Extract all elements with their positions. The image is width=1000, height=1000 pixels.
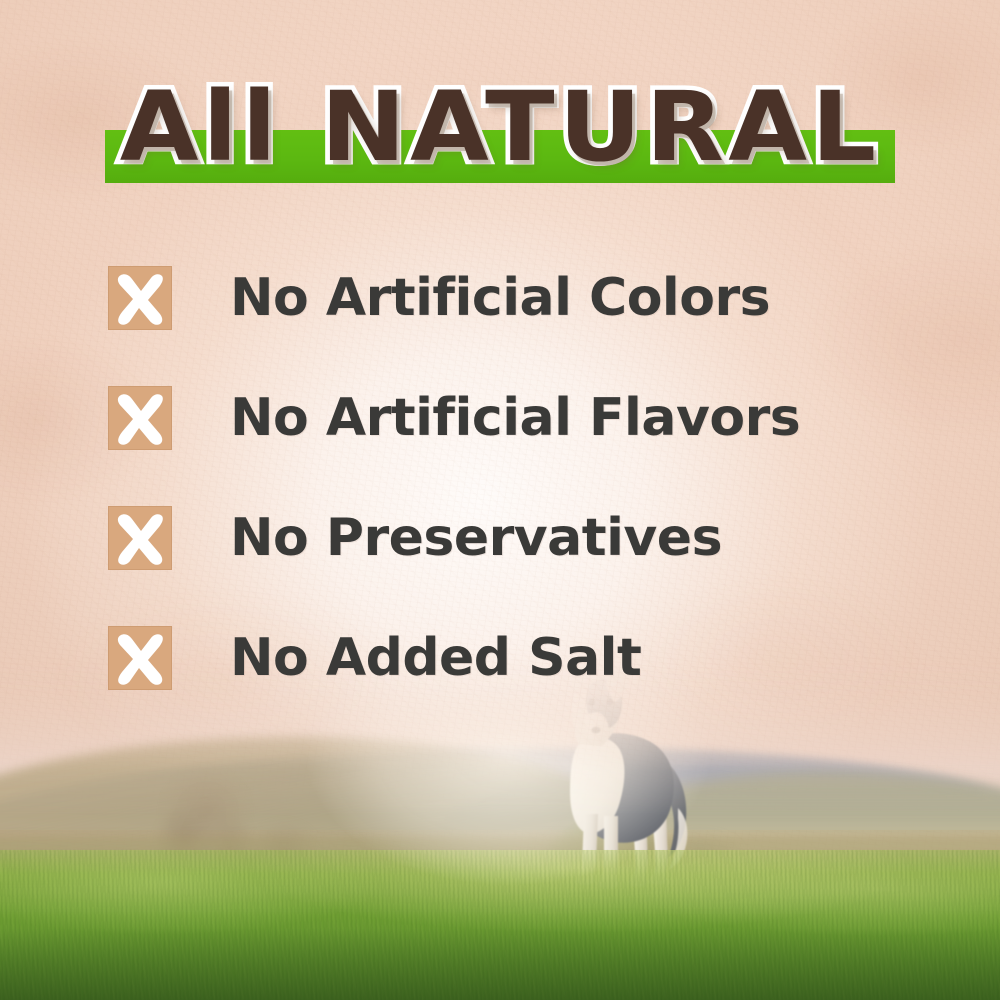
list-item: No Artificial Colors: [108, 266, 928, 330]
list-item-label: No Preservatives: [230, 506, 722, 570]
x-mark-icon: [108, 386, 172, 450]
claims-list: No Artificial Colors No Artificial Flavo…: [108, 266, 928, 690]
x-mark-icon: [108, 506, 172, 570]
photo-inner: [0, 640, 1000, 1000]
list-item: No Artificial Flavors: [108, 386, 928, 450]
all-natural-poster: All NATURAL No Artificial Colors No Arti…: [0, 0, 1000, 1000]
list-item: No Preservatives: [108, 506, 928, 570]
x-mark-icon: [108, 626, 172, 690]
grass-shadow: [0, 928, 1000, 1000]
list-item: No Added Salt: [108, 626, 928, 690]
list-item-label: No Artificial Colors: [230, 266, 770, 330]
page-title: All NATURAL: [0, 72, 1000, 182]
x-mark-icon: [108, 266, 172, 330]
landscape-photo: [0, 640, 1000, 1000]
list-item-label: No Artificial Flavors: [230, 386, 800, 450]
list-item-label: No Added Salt: [230, 626, 641, 690]
